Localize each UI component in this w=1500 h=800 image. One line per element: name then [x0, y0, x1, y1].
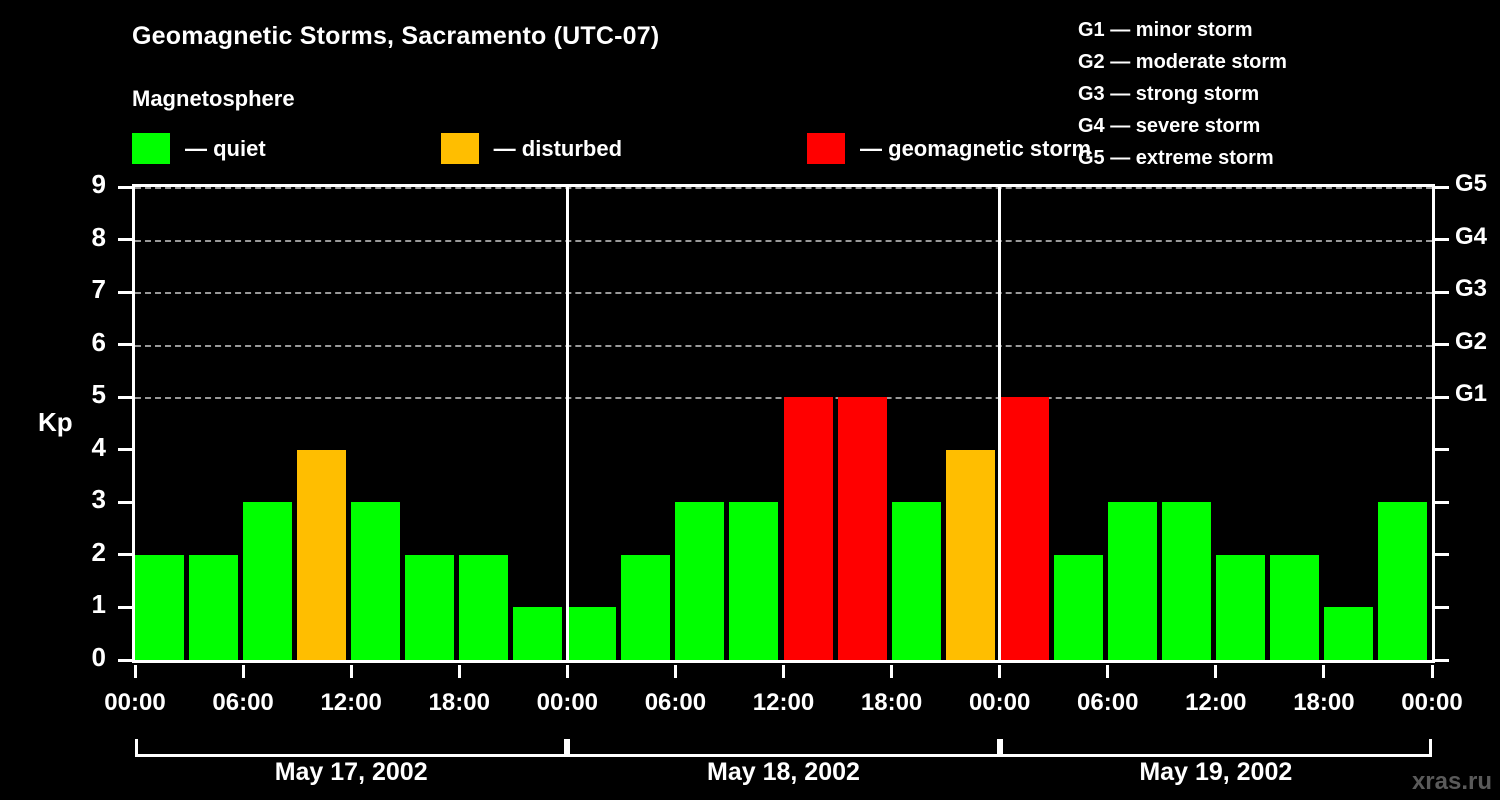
g-axis-tick-2 — [1435, 553, 1449, 556]
bar-kp — [567, 607, 616, 660]
bar-kp — [351, 502, 400, 660]
x-tick-12 — [1431, 665, 1434, 678]
bar-kp — [784, 397, 833, 660]
legend-label: — geomagnetic storm — [860, 136, 1091, 162]
bar-kp — [1378, 502, 1427, 660]
y-tick-label-8: 8 — [66, 222, 106, 253]
x-tick-label-7: 18:00 — [832, 689, 952, 717]
legend-swatch-icon — [132, 133, 170, 164]
legend-label: — disturbed — [494, 136, 622, 162]
bar-kp — [1108, 502, 1157, 660]
x-tick-11 — [1322, 665, 1325, 678]
g-scale-row-1: G1 — minor storm — [1078, 14, 1287, 46]
g-axis-tick-3 — [1435, 501, 1449, 504]
g-axis-tick-0 — [1435, 659, 1449, 662]
y-tick-label-4: 4 — [66, 432, 106, 463]
x-tick-label-6: 12:00 — [724, 689, 844, 717]
g-axis-tick-5 — [1435, 396, 1449, 399]
legend-swatch-icon — [807, 133, 845, 164]
legend-item-0: — quiet — [132, 133, 266, 164]
x-tick-label-12: 00:00 — [1372, 689, 1492, 717]
y-tick-label-0: 0 — [66, 642, 106, 673]
x-tick-label-5: 06:00 — [615, 689, 735, 717]
g-scale-row-2: G2 — moderate storm — [1078, 46, 1287, 78]
day-bracket-1 — [135, 739, 567, 757]
g-scale-row-5: G5 — extreme storm — [1078, 142, 1287, 174]
plot-area — [132, 184, 1435, 663]
bar-kp — [1054, 555, 1103, 660]
y-tick-1 — [118, 606, 132, 609]
g-scale-row-3: G3 — strong storm — [1078, 78, 1287, 110]
legend-item-2: — geomagnetic storm — [807, 133, 1091, 164]
bar-kp — [838, 397, 887, 660]
x-tick-8 — [998, 665, 1001, 678]
bar-kp — [189, 555, 238, 660]
legend-item-1: — disturbed — [441, 133, 622, 164]
x-tick-label-3: 18:00 — [399, 689, 519, 717]
bar-kp — [135, 555, 184, 660]
bar-kp — [621, 555, 670, 660]
legend-label: — quiet — [185, 136, 266, 162]
x-tick-label-10: 12:00 — [1156, 689, 1276, 717]
y-tick-8 — [118, 238, 132, 241]
y-tick-7 — [118, 291, 132, 294]
y-tick-5 — [118, 396, 132, 399]
g-axis-tick-4 — [1435, 448, 1449, 451]
bar-kp — [946, 450, 995, 660]
y-tick-label-2: 2 — [66, 537, 106, 568]
bar-kp — [1324, 607, 1373, 660]
x-tick-0 — [134, 665, 137, 678]
g-axis-label-G5: G5 — [1455, 170, 1487, 198]
bar-kp — [459, 555, 508, 660]
gridline-kp-8 — [135, 240, 1432, 242]
bar-kp — [1162, 502, 1211, 660]
day-separator-2 — [998, 187, 1001, 660]
x-tick-label-1: 06:00 — [183, 689, 303, 717]
g-axis-label-G3: G3 — [1455, 275, 1487, 303]
x-tick-2 — [350, 665, 353, 678]
y-tick-label-3: 3 — [66, 484, 106, 515]
x-tick-9 — [1106, 665, 1109, 678]
g-axis-tick-7 — [1435, 291, 1449, 294]
day-bracket-3 — [1000, 739, 1432, 757]
page-title: Geomagnetic Storms, Sacramento (UTC-07) — [132, 22, 659, 51]
watermark: xras.ru — [1412, 768, 1492, 796]
x-tick-10 — [1214, 665, 1217, 678]
y-tick-0 — [118, 659, 132, 662]
bar-kp — [1000, 397, 1049, 660]
g-axis-tick-6 — [1435, 343, 1449, 346]
g-scale-legend: G1 — minor stormG2 — moderate stormG3 — … — [1078, 14, 1287, 174]
bar-kp — [297, 450, 346, 660]
g-scale-row-4: G4 — severe storm — [1078, 110, 1287, 142]
y-tick-label-5: 5 — [66, 379, 106, 410]
y-tick-label-7: 7 — [66, 274, 106, 305]
day-separator-1 — [566, 187, 569, 660]
y-tick-6 — [118, 343, 132, 346]
g-axis-label-G4: G4 — [1455, 223, 1487, 251]
chart-root: Geomagnetic Storms, Sacramento (UTC-07) … — [0, 0, 1500, 800]
y-tick-4 — [118, 448, 132, 451]
bar-kp — [1270, 555, 1319, 660]
gridline-kp-9 — [135, 187, 1432, 189]
g-axis-tick-9 — [1435, 186, 1449, 189]
x-tick-label-0: 00:00 — [75, 689, 195, 717]
y-tick-2 — [118, 553, 132, 556]
y-tick-label-9: 9 — [66, 169, 106, 200]
y-tick-label-6: 6 — [66, 327, 106, 358]
x-tick-5 — [674, 665, 677, 678]
g-axis-label-G2: G2 — [1455, 328, 1487, 356]
chart-subtitle: Magnetosphere — [132, 86, 295, 112]
bar-kp — [513, 607, 562, 660]
x-tick-4 — [566, 665, 569, 678]
day-bracket-2 — [567, 739, 999, 757]
bar-kp — [1216, 555, 1265, 660]
day-label-3: May 19, 2002 — [1000, 758, 1432, 787]
x-tick-3 — [458, 665, 461, 678]
x-tick-7 — [890, 665, 893, 678]
day-label-1: May 17, 2002 — [135, 758, 567, 787]
x-tick-label-4: 00:00 — [507, 689, 627, 717]
bar-kp — [892, 502, 941, 660]
x-tick-label-11: 18:00 — [1264, 689, 1384, 717]
legend-swatch-icon — [441, 133, 479, 164]
g-axis-tick-1 — [1435, 606, 1449, 609]
bar-kp — [675, 502, 724, 660]
y-tick-label-1: 1 — [66, 589, 106, 620]
y-tick-3 — [118, 501, 132, 504]
g-axis-label-G1: G1 — [1455, 380, 1487, 408]
x-tick-label-2: 12:00 — [291, 689, 411, 717]
x-tick-1 — [242, 665, 245, 678]
bar-kp — [243, 502, 292, 660]
gridline-kp-7 — [135, 292, 1432, 294]
x-tick-label-9: 06:00 — [1048, 689, 1168, 717]
x-tick-6 — [782, 665, 785, 678]
day-label-2: May 18, 2002 — [567, 758, 999, 787]
g-axis-tick-8 — [1435, 238, 1449, 241]
y-tick-9 — [118, 186, 132, 189]
bar-kp — [405, 555, 454, 660]
color-legend: — quiet— disturbed— geomagnetic storm — [132, 133, 1091, 164]
x-tick-label-8: 00:00 — [940, 689, 1060, 717]
bar-kp — [729, 502, 778, 660]
gridline-kp-6 — [135, 345, 1432, 347]
